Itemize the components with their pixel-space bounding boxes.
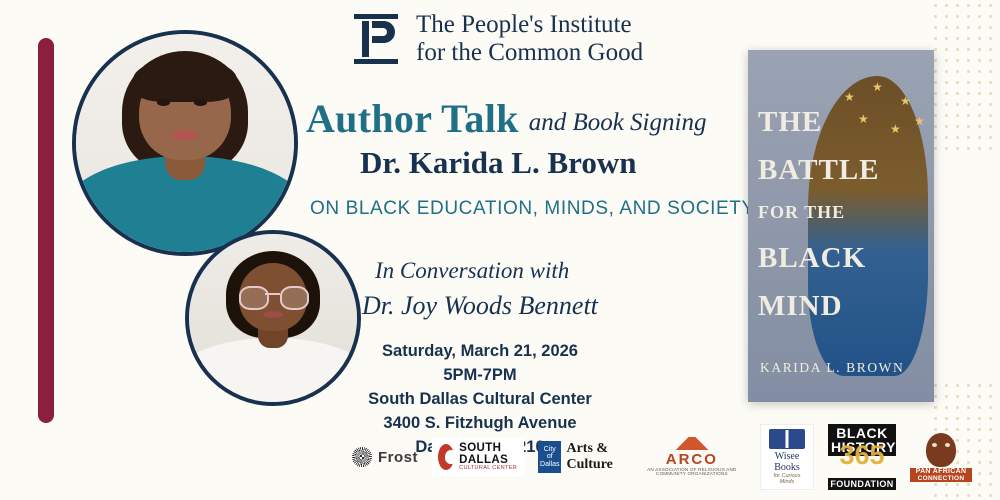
sponsor-black-history-365: BLACK HISTORY 365 FOUNDATION — [828, 424, 896, 491]
sponsor-bh365-line1: BLACK — [831, 426, 893, 440]
open-book-icon — [769, 429, 805, 449]
sponsor-wisee-books: Wisee Books for Curious Minds — [760, 424, 814, 490]
pillar-monogram-icon — [350, 10, 402, 68]
sponsor-arco: ARCO AN ASSOCIATION OF RELIGIOUS AND COM… — [638, 437, 746, 477]
sponsor-bh365-number: 365 — [839, 440, 884, 471]
book-title-line-4: BLACK — [758, 242, 866, 275]
conversation-partner: Dr. Joy Woods Bennett — [362, 291, 598, 321]
city-of-dallas-icon: City of Dallas — [538, 441, 561, 473]
sponsor-arts-label: Arts & Culture — [566, 441, 623, 473]
sponsor-arts-and-culture: City of Dallas Arts & Culture — [538, 441, 624, 473]
sponsor-arco-label: ARCO — [638, 452, 746, 468]
organization-name-line1: The People's Institute — [416, 11, 643, 39]
portrait-illustration — [76, 34, 294, 252]
sponsor-pac-line2: CONNECTION — [910, 475, 972, 482]
sponsor-wisee-sub: for Curious Minds — [769, 473, 805, 485]
book-title-line-2: BATTLE — [758, 154, 880, 187]
sponsor-wisee-label: Wisee Books — [769, 451, 805, 473]
accent-bar-left — [38, 38, 54, 423]
sdcc-flame-icon — [438, 444, 454, 470]
event-date: Saturday, March 21, 2026 — [305, 340, 655, 364]
event-time: 5PM-7PM — [305, 364, 655, 388]
speaker-name: Dr. Karida L. Brown — [360, 145, 636, 181]
african-mask-icon — [926, 433, 956, 467]
dot-pattern-top-right-icon — [930, 0, 1000, 150]
book-cover: ★ ★ ★ ★ ★ ★ THE BATTLE FOR THE BLACK MIN… — [748, 50, 934, 402]
sponsor-bh365-footer: FOUNDATION — [828, 478, 896, 490]
organization-name: The People's Institute for the Common Go… — [416, 11, 643, 67]
book-title-line-3: FOR THE — [758, 202, 845, 223]
book-author: KARIDA L. BROWN — [760, 360, 904, 376]
flyer-canvas: The People's Institute for the Common Go… — [0, 0, 1000, 500]
author-talk-title: Author Talk — [306, 95, 519, 142]
sponsor-pan-african-connection: PAN AFRICAN CONNECTION — [910, 433, 972, 482]
portrait-karida-brown — [72, 30, 298, 256]
conversation-label: In Conversation with — [375, 258, 569, 284]
book-title-line-5: MIND — [758, 290, 843, 323]
sponsor-frost: Frost — [352, 447, 418, 467]
sponsor-sdcc-label: SOUTH DALLAS — [459, 442, 518, 466]
sponsor-sdcc-sub: CULTURAL CENTER — [459, 466, 518, 472]
talk-subtitle: ON BLACK EDUCATION, MINDS, AND SOCIETY — [310, 198, 755, 220]
book-title-line-1: THE — [758, 106, 822, 139]
sponsor-arco-sub: AN ASSOCIATION OF RELIGIOUS AND COMMUNIT… — [638, 468, 746, 478]
arco-roof-icon — [673, 437, 711, 450]
sponsor-pac-line1: PAN AFRICAN — [910, 468, 972, 475]
sponsor-logo-row: Frost SOUTH DALLAS CULTURAL CENTER City … — [352, 424, 972, 490]
event-venue: South Dallas Cultural Center — [305, 388, 655, 412]
headline-row: Author Talk and Book Signing — [306, 95, 706, 142]
frost-starburst-icon — [352, 447, 372, 467]
organization-name-line2: for the Common Good — [416, 39, 643, 67]
and-book-signing-text: and Book Signing — [529, 109, 707, 142]
organization-logo: The People's Institute for the Common Go… — [350, 10, 643, 68]
sponsor-frost-label: Frost — [378, 449, 418, 466]
sponsor-south-dallas-cultural-center: SOUTH DALLAS CULTURAL CENTER — [432, 438, 524, 476]
